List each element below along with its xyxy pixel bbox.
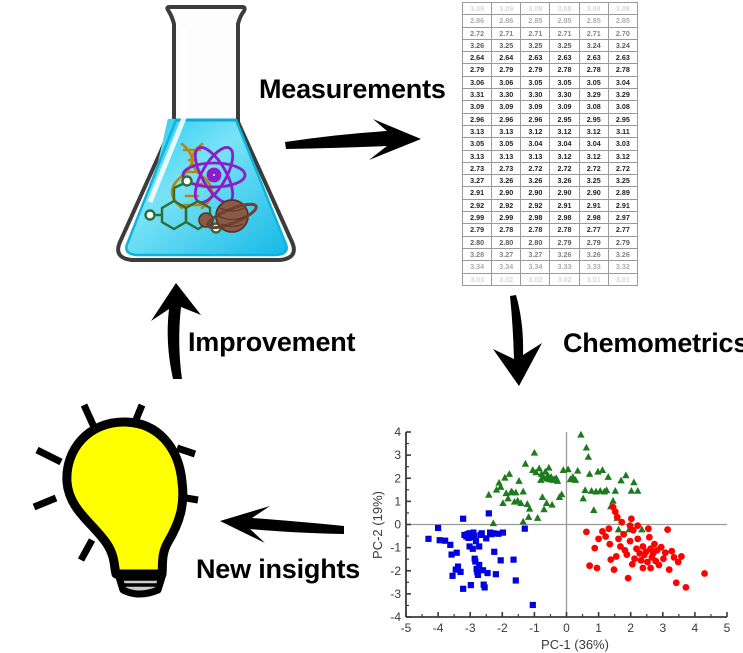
table-row: 2.642.642.632.632.632.63 [463,52,638,64]
x-tick-label: 1 [595,621,602,635]
data-point [466,543,472,549]
data-point [613,553,620,560]
data-point [506,470,513,477]
y-tick-label: 4 [394,425,401,439]
table-cell: 2.89 [608,187,637,199]
table-cell: 2.96 [521,113,550,125]
table-cell: 2.90 [579,187,608,199]
table-cell: 3.03 [463,273,492,285]
data-point [602,533,609,540]
table-row: 2.792.792.792.782.782.78 [463,64,638,76]
table-cell: 3.25 [608,175,637,187]
table-cell: 3.08 [608,101,637,113]
table-cell: 3.02 [521,273,550,285]
data-point [454,550,460,556]
table-row: 3.033.023.023.023.013.01 [463,273,638,285]
table-cell: 2.79 [463,224,492,236]
data-point [540,505,547,512]
table-cell: 2.98 [521,212,550,224]
table-cell: 3.27 [521,248,550,260]
data-point [611,566,618,573]
table-cell: 3.29 [579,89,608,101]
data-point [493,571,499,577]
label-measurements: Measurements [259,74,446,105]
table-cell: 3.12 [521,125,550,137]
x-tick-label: 2 [627,621,634,635]
data-point [558,490,565,497]
table-cell: 3.12 [550,125,579,137]
table-cell: 3.26 [550,175,579,187]
data-point [485,491,492,498]
table-cell: 2.73 [463,162,492,174]
table-row: 3.133.133.133.123.123.12 [463,150,638,162]
data-point [605,473,612,480]
table-cell: 2.72 [608,162,637,174]
label-chemometrics: Chemometrics [563,328,743,359]
table-cell: 2.64 [492,52,521,64]
data-point [522,526,528,532]
table-cell: 2.72 [521,162,550,174]
data-point [545,464,552,471]
table-cell: 3.34 [492,261,521,273]
data-point [437,537,443,543]
table-cell: 2.90 [521,187,550,199]
table-cell: 2.78 [608,64,637,76]
chemometrics-cycle-diagram: Measurements Chemometrics New insights I… [0,0,743,653]
table-cell: 3.08 [579,101,608,113]
table-cell: 2.85 [608,15,637,27]
data-point [645,525,652,532]
data-point [543,499,550,506]
table-cell: 3.26 [463,39,492,51]
x-axis-title: PC-1 (36%) [541,637,609,652]
y-tick-label: -4 [390,610,401,624]
data-point [673,579,680,586]
table-cell: 2.63 [550,52,579,64]
arrow-left-new-insights [218,505,346,547]
table-cell: 2.92 [463,199,492,211]
x-tick-label: 5 [724,621,731,635]
table-cell: 2.91 [579,199,608,211]
table-cell: 2.90 [492,187,521,199]
data-point [618,519,625,526]
table-cell: 3.26 [608,248,637,260]
table-row: 3.313.303.303.303.293.29 [463,89,638,101]
table-cell: 3.04 [608,76,637,88]
table-cell: 3.12 [579,125,608,137]
table-cell: 2.79 [521,64,550,76]
table-cell: 2.96 [492,113,521,125]
table-cell: 2.91 [463,187,492,199]
data-point [605,525,612,532]
data-point [530,602,536,608]
data-point [606,541,613,548]
table-cell: 2.79 [579,236,608,248]
table-cell: 2.86 [492,15,521,27]
table-cell: 3.26 [579,248,608,260]
data-point [646,534,653,541]
table-cell: 3.25 [550,39,579,51]
data-point [628,487,635,494]
table-cell: 2.77 [579,224,608,236]
table-cell: 3.13 [492,125,521,137]
data-point [583,444,590,451]
table-cell: 2.72 [579,162,608,174]
data-point [581,486,588,493]
data-point [628,515,635,522]
data-point [591,545,598,552]
table-row: 3.283.273.273.263.263.26 [463,248,638,260]
data-point [595,535,602,542]
data-point [656,562,663,569]
data-point [590,506,597,513]
data-point [486,510,492,516]
data-point [623,551,630,558]
table-cell: 3.05 [521,76,550,88]
data-point [639,565,646,572]
table-cell: 3.12 [579,150,608,162]
data-point [660,555,667,562]
table-cell: 3.29 [608,89,637,101]
table-cell: 3.25 [492,39,521,51]
table-cell: 2.91 [608,199,637,211]
data-table: 3.093.093.093.083.083.082.862.862.852.85… [462,2,638,286]
table-cell: 2.79 [492,64,521,76]
table-cell: 3.26 [521,175,550,187]
data-point [460,516,466,522]
table-cell: 3.05 [550,76,579,88]
y-tick-label: -2 [390,564,401,578]
data-point [525,513,532,520]
table-cell: 2.72 [550,162,579,174]
table-cell: 3.11 [608,125,637,137]
bulb-base [118,574,163,594]
table-cell: 2.71 [550,27,579,39]
data-point [490,519,497,526]
data-point [574,467,581,474]
data-point [536,465,543,472]
data-point [586,562,593,569]
table-cell: 2.90 [550,187,579,199]
table-cell: 2.78 [550,224,579,236]
table-cell: 2.77 [608,224,637,236]
table-cell: 3.08 [608,3,637,15]
y-tick-label: 3 [394,448,401,462]
data-point [491,549,497,555]
data-point [585,453,592,460]
table-cell: 2.73 [492,162,521,174]
table-cell: 3.13 [492,150,521,162]
data-point [583,529,590,536]
table-cell: 2.85 [550,15,579,27]
table-cell: 3.05 [579,76,608,88]
table-row: 2.922.922.922.912.912.91 [463,199,638,211]
data-point [666,566,673,573]
table-cell: 2.99 [463,212,492,224]
table-cell: 3.06 [492,76,521,88]
table-row: 2.862.862.852.852.852.85 [463,15,638,27]
table-row: 2.732.732.722.722.722.72 [463,162,638,174]
table-cell: 2.63 [521,52,550,64]
label-new-insights: New insights [196,554,360,585]
table-cell: 2.97 [608,212,637,224]
data-point [447,542,453,548]
table-cell: 2.64 [463,52,492,64]
series-class-b [485,431,646,533]
table-cell: 3.28 [463,248,492,260]
table-row: 3.053.053.043.043.043.03 [463,138,638,150]
data-point [599,466,606,473]
data-point [435,525,441,531]
data-point [615,526,622,533]
table-cell: 3.12 [608,150,637,162]
table-cell: 2.78 [521,224,550,236]
data-point [662,549,669,556]
table-cell: 2.63 [608,52,637,64]
data-point [460,586,466,592]
data-point [620,531,627,538]
table-row: 3.263.253.253.253.243.24 [463,39,638,51]
table-cell: 2.70 [608,27,637,39]
y-tick-label: 2 [394,471,401,485]
x-tick-label: -4 [433,621,444,635]
data-point [678,553,685,560]
table-cell: 3.05 [463,138,492,150]
table-cell: 3.34 [521,261,550,273]
table-cell: 3.03 [608,138,637,150]
table-cell: 3.24 [579,39,608,51]
data-point [534,514,541,521]
table-cell: 3.25 [521,39,550,51]
table-row: 3.093.093.093.083.083.08 [463,3,638,15]
data-point [668,548,675,555]
series-class-c [583,504,708,591]
table-cell: 3.09 [492,3,521,15]
data-point [453,566,459,572]
table-cell: 3.32 [608,261,637,273]
table-cell: 2.85 [521,15,550,27]
table-cell: 3.26 [550,248,579,260]
table-cell: 2.86 [463,15,492,27]
table-cell: 3.27 [492,248,521,260]
data-point [634,487,641,494]
y-tick-label: -3 [390,587,401,601]
table-row: 2.912.902.902.902.902.89 [463,187,638,199]
zero-reference-lines [406,432,727,617]
table-cell: 2.85 [579,15,608,27]
table-row: 2.802.802.802.792.792.79 [463,236,638,248]
table-cell: 3.08 [550,3,579,15]
table-row: 2.792.782.782.782.772.77 [463,224,638,236]
table-cell: 3.33 [550,261,579,273]
data-point [473,538,479,544]
data-point [468,582,474,588]
table-cell: 2.71 [521,27,550,39]
table-cell: 3.09 [463,3,492,15]
table-cell: 3.02 [550,273,579,285]
data-point [634,535,641,542]
table-cell: 2.71 [579,27,608,39]
table-cell: 2.80 [492,236,521,248]
data-point [522,460,529,467]
table-cell: 3.27 [463,175,492,187]
data-point [609,497,616,504]
table-cell: 3.09 [463,101,492,113]
y-axis-title: PC-2 (19%) [370,491,385,559]
data-point [531,449,538,456]
table-row: 2.962.962.962.952.952.95 [463,113,638,125]
table-cell: 2.78 [492,224,521,236]
data-point [701,570,708,577]
data-point [510,557,516,563]
table-cell: 2.79 [463,64,492,76]
data-point [634,522,641,529]
table-cell: 2.95 [550,113,579,125]
table-cell: 2.63 [579,52,608,64]
table-row: 3.063.063.053.053.053.04 [463,76,638,88]
data-point [513,577,519,583]
table-cell: 3.24 [608,39,637,51]
data-point [622,471,629,478]
data-point [627,538,634,545]
data-point [651,541,658,548]
data-point [612,487,619,494]
table-cell: 2.95 [579,113,608,125]
data-point [579,495,586,502]
table-cell: 2.98 [579,212,608,224]
data-point [519,488,526,495]
data-point [449,573,455,579]
table-cell: 2.96 [463,113,492,125]
table-cell: 2.92 [521,199,550,211]
table-cell: 3.09 [521,101,550,113]
table-cell: 3.30 [521,89,550,101]
table-cell: 2.91 [550,199,579,211]
data-point [498,557,504,563]
table-cell: 3.09 [521,3,550,15]
data-point [627,522,634,529]
data-point [539,493,546,500]
table-cell: 2.99 [492,212,521,224]
data-point [629,561,636,568]
data-point [476,543,482,549]
label-improvement: Improvement [188,327,355,358]
data-point [548,501,555,508]
table-cell: 3.13 [463,125,492,137]
x-tick-label: 0 [563,621,570,635]
x-tick-label: -3 [465,621,476,635]
data-point [630,478,637,485]
table-row: 2.992.992.982.982.982.97 [463,212,638,224]
data-point [425,536,431,542]
table-cell: 2.72 [463,27,492,39]
table-cell: 3.01 [608,273,637,285]
table-cell: 2.80 [463,236,492,248]
data-point [500,529,506,535]
table-cell: 3.09 [492,101,521,113]
data-point [614,514,621,521]
spectral-data-table: 3.093.093.093.083.083.082.862.862.852.85… [462,2,638,274]
data-point [658,544,665,551]
data-point [476,562,482,568]
data-point [577,431,584,438]
table-cell: 2.79 [608,236,637,248]
table-cell: 3.04 [550,138,579,150]
y-tick-label: 1 [394,494,401,508]
table-cell: 3.25 [579,175,608,187]
table-cell: 2.98 [550,212,579,224]
data-point [594,565,601,572]
data-point [683,584,690,591]
table-cell: 3.09 [550,101,579,113]
data-point [615,535,622,542]
table-cell: 3.31 [463,89,492,101]
table-cell: 3.06 [463,76,492,88]
table-row: 2.722.712.712.712.712.70 [463,27,638,39]
table-cell: 3.04 [521,138,550,150]
data-point [647,565,654,572]
table-cell: 2.95 [608,113,637,125]
x-tick-label: 3 [659,621,666,635]
table-cell: 3.13 [521,150,550,162]
table-row: 3.093.093.093.093.083.08 [463,101,638,113]
table-cell: 2.71 [492,27,521,39]
table-cell: 3.13 [463,150,492,162]
table-row: 3.273.263.263.263.253.25 [463,175,638,187]
table-cell: 3.05 [492,138,521,150]
x-tick-label: -5 [401,621,412,635]
data-point [664,526,671,533]
x-tick-label: -2 [497,621,508,635]
arrow-down-chemometrics [490,293,550,388]
table-cell: 3.30 [492,89,521,101]
data-point [482,584,488,590]
table-cell: 3.02 [492,273,521,285]
table-cell: 3.34 [463,261,492,273]
y-tick-label: -1 [390,541,401,555]
y-tick-label: 0 [394,518,401,532]
table-cell: 2.79 [550,236,579,248]
table-cell: 3.26 [492,175,521,187]
table-cell: 3.04 [579,138,608,150]
table-row: 3.343.343.343.333.333.32 [463,261,638,273]
table-cell: 3.12 [550,150,579,162]
data-point [586,470,593,477]
data-point [625,575,632,582]
data-point [484,570,490,576]
table-cell: 3.33 [579,261,608,273]
table-cell: 2.78 [550,64,579,76]
table-cell: 3.01 [579,273,608,285]
table-cell: 3.08 [579,3,608,15]
pca-scatter-plot: -5-4-3-2-1012345-4-3-2-101234 PC-1 (36%)… [370,415,743,653]
plot-tick-labels: -5-4-3-2-1012345-4-3-2-101234 [390,425,730,635]
x-tick-label: -1 [529,621,540,635]
arrow-right-measurements [283,118,423,163]
x-tick-label: 4 [692,621,699,635]
table-row: 3.133.133.123.123.123.11 [463,125,638,137]
data-point [564,465,571,472]
table-cell: 2.92 [492,199,521,211]
table-cell: 2.78 [579,64,608,76]
table-cell: 2.80 [521,236,550,248]
table-cell: 3.30 [550,89,579,101]
data-point [515,477,522,484]
